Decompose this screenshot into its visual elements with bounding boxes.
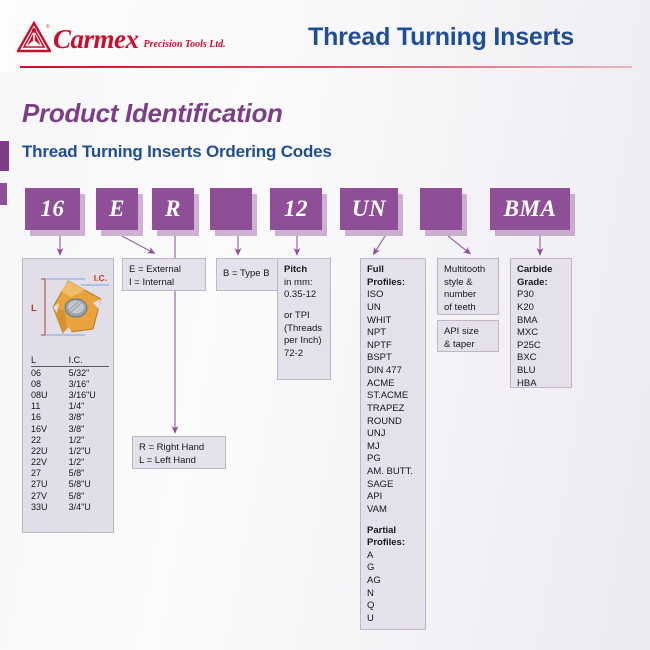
size-cell-ic: 3/8" (53, 423, 109, 434)
partial-profile-item: U (367, 613, 419, 626)
size-cell-ic: 3/8" (53, 412, 109, 423)
partial-profiles-list: AGAGNQU (367, 550, 419, 626)
full-profile-item: API (367, 491, 419, 504)
size-cell-l: 16 (31, 412, 53, 423)
dimension-label-l: L (31, 303, 37, 314)
pitch-tpi-label: or TPI (284, 310, 324, 323)
full-profile-item: ST.ACME (367, 390, 419, 403)
partial-profile-item: N (367, 588, 419, 601)
size-cell-l: 27V (31, 490, 53, 501)
size-cell-l: 11 (31, 401, 53, 412)
multitooth-line-1: Multitooth (444, 264, 492, 277)
detail-box-api: API size & taper (437, 320, 499, 352)
brand-name: Carmex (53, 26, 139, 53)
left-accent-bar (0, 141, 9, 171)
size-cell-l: 33U (31, 501, 53, 512)
size-table-row: 33U3/4"U (31, 501, 109, 512)
size-table-row: 27U5/8"U (31, 479, 109, 490)
full-profile-item: WHIT (367, 315, 419, 328)
size-cell-ic: 3/16" (53, 378, 109, 389)
pitch-tpi-desc-2: per Inch) (284, 335, 324, 348)
full-profile-item: PG (367, 453, 419, 466)
full-profiles-title-1: Full (367, 264, 419, 277)
pitch-tpi-desc-1: (Threads (284, 323, 324, 336)
size-cell-l: 27 (31, 468, 53, 479)
size-cell-ic: 5/8" (53, 468, 109, 479)
size-cell-ic: 1/4" (53, 401, 109, 412)
full-profile-item: UNJ (367, 428, 419, 441)
size-table-row: 065/32" (31, 367, 109, 379)
partial-profiles-title-1: Partial (367, 525, 419, 538)
api-line-1: API size (444, 326, 492, 339)
size-cell-ic: 1/2" (53, 457, 109, 468)
full-profile-item: BSPT (367, 352, 419, 365)
detail-box-profiles: Full Profiles: ISOUNWHITNPTNPTFBSPTDIN 4… (360, 258, 426, 630)
size-cell-l: 08 (31, 378, 53, 389)
page-header: ® Carmex Precision Tools Ltd. Thread Tur… (0, 0, 650, 72)
code-box-external[interactable]: E (96, 188, 138, 230)
detail-box-carbide-grade: Carbide Grade: P30K20BMAMXCP25CBXCBLUHBA (510, 258, 572, 388)
size-cell-ic: 3/16"U (53, 389, 109, 400)
size-cell-ic: 3/4"U (53, 501, 109, 512)
code-box-multitooth[interactable] (420, 188, 462, 230)
carbide-grade-item: BXC (517, 352, 565, 365)
left-hand-line: L = Left Hand (139, 455, 219, 468)
size-cell-l: 22V (31, 457, 53, 468)
multitooth-line-4: of teeth (444, 302, 492, 315)
size-table-row: 083/16" (31, 378, 109, 389)
code-box-size[interactable]: 16 (25, 188, 80, 230)
code-box-pitch[interactable]: 12 (270, 188, 322, 230)
carbide-grade-item: P30 (517, 289, 565, 302)
size-cell-ic: 5/32" (53, 367, 109, 379)
code-box-grade[interactable]: BMA (490, 188, 570, 230)
full-profiles-list: ISOUNWHITNPTNPTFBSPTDIN 477ACMEST.ACMETR… (367, 289, 419, 516)
carbide-grade-item: BLU (517, 365, 565, 378)
pitch-tpi-range: 72-2 (284, 348, 324, 361)
carbide-grade-item: HBA (517, 378, 565, 391)
full-profile-item: TRAPEZ (367, 403, 419, 416)
dimension-label-ic: I.C. (94, 273, 107, 283)
pitch-title: Pitch (284, 264, 324, 277)
full-profile-item: DIN 477 (367, 365, 419, 378)
size-table-row: 08U3/16"U (31, 389, 109, 400)
size-table-header-ic: I.C. (53, 355, 109, 367)
size-cell-l: 22U (31, 445, 53, 456)
page-subtitle: Thread Turning Inserts Ordering Codes (22, 142, 332, 162)
right-hand-line: R = Right Hand (139, 442, 219, 455)
size-table-header-l: L (31, 355, 53, 367)
carmex-triangle-emblem-icon: ® (17, 21, 51, 53)
pitch-unit: in mm: (284, 277, 324, 290)
carbide-grade-item: K20 (517, 302, 565, 315)
partial-profile-item: AG (367, 575, 419, 588)
size-table-row: 22U1/2"U (31, 445, 109, 456)
size-table-row: 111/4" (31, 401, 109, 412)
full-profile-item: NPT (367, 327, 419, 340)
multitooth-line-2: style & (444, 277, 492, 290)
size-cell-ic: 5/8" (53, 490, 109, 501)
type-line: B = Type B (223, 268, 270, 281)
code-box-type[interactable] (210, 188, 252, 230)
full-profile-item: UN (367, 302, 419, 315)
carbide-grade-item: BMA (517, 315, 565, 328)
size-cell-l: 22 (31, 434, 53, 445)
full-profile-item: ISO (367, 289, 419, 302)
carbide-grade-item: MXC (517, 327, 565, 340)
code-box-hand[interactable]: R (152, 188, 194, 230)
detail-box-multitooth: Multitooth style & number of teeth (437, 258, 499, 315)
size-cell-ic: 5/8"U (53, 479, 109, 490)
size-cell-ic: 1/2" (53, 434, 109, 445)
carmex-logo: ® Carmex Precision Tools Ltd. (17, 21, 226, 53)
partial-profile-item: A (367, 550, 419, 563)
left-accent-bar-secondary (0, 183, 7, 205)
size-table-row: 22V1/2" (31, 457, 109, 468)
full-profile-item: ACME (367, 378, 419, 391)
detail-box-type: B = Type B (216, 258, 284, 291)
multitooth-line-3: number (444, 289, 492, 302)
full-profile-item: VAM (367, 504, 419, 517)
size-table-header-row: L I.C. (31, 355, 109, 367)
size-table: L I.C. 065/32"083/16"08U3/16"U111/4"163/… (31, 355, 109, 512)
size-cell-ic: 1/2"U (53, 445, 109, 456)
size-table-row: 16V3/8" (31, 423, 109, 434)
brand-tagline: Precision Tools Ltd. (144, 39, 226, 50)
size-cell-l: 16V (31, 423, 53, 434)
size-table-row: 27V5/8" (31, 490, 109, 501)
carbide-title-1: Carbide (517, 264, 565, 277)
detail-box-external-internal: E = External I = Internal (122, 258, 206, 291)
size-cell-l: 06 (31, 367, 53, 379)
insert-dimension-panel: L I.C. L I.C. 065/32"083/16"08U3/16"U111… (22, 258, 114, 533)
header-divider (20, 66, 632, 68)
full-profile-item: ROUND (367, 416, 419, 429)
size-table-row: 221/2" (31, 434, 109, 445)
api-line-2: & taper (444, 339, 492, 352)
partial-profiles-title-2: Profiles: (367, 537, 419, 550)
code-box-profile[interactable]: UN (340, 188, 398, 230)
full-profile-item: SAGE (367, 479, 419, 492)
size-cell-l: 08U (31, 389, 53, 400)
detail-box-hand: R = Right Hand L = Left Hand (132, 436, 226, 469)
internal-line: I = Internal (129, 277, 199, 290)
full-profile-item: NPTF (367, 340, 419, 353)
size-table-row: 275/8" (31, 468, 109, 479)
carbide-grade-item: P25C (517, 340, 565, 353)
pitch-range: 0.35-12 (284, 289, 324, 302)
size-cell-l: 27U (31, 479, 53, 490)
header-title: Thread Turning Inserts (308, 23, 574, 52)
page-title: Product Identification (22, 98, 283, 129)
full-profile-item: AM. BUTT. (367, 466, 419, 479)
svg-text:®: ® (46, 24, 50, 30)
detail-box-pitch: Pitch in mm: 0.35-12 or TPI (Threads per… (277, 258, 331, 380)
external-line: E = External (129, 264, 199, 277)
carbide-grade-list: P30K20BMAMXCP25CBXCBLUHBA (517, 289, 565, 390)
size-table-row: 163/8" (31, 412, 109, 423)
full-profile-item: MJ (367, 441, 419, 454)
carbide-title-2: Grade: (517, 277, 565, 290)
partial-profile-item: Q (367, 600, 419, 613)
full-profiles-title-2: Profiles: (367, 277, 419, 290)
partial-profile-item: G (367, 562, 419, 575)
